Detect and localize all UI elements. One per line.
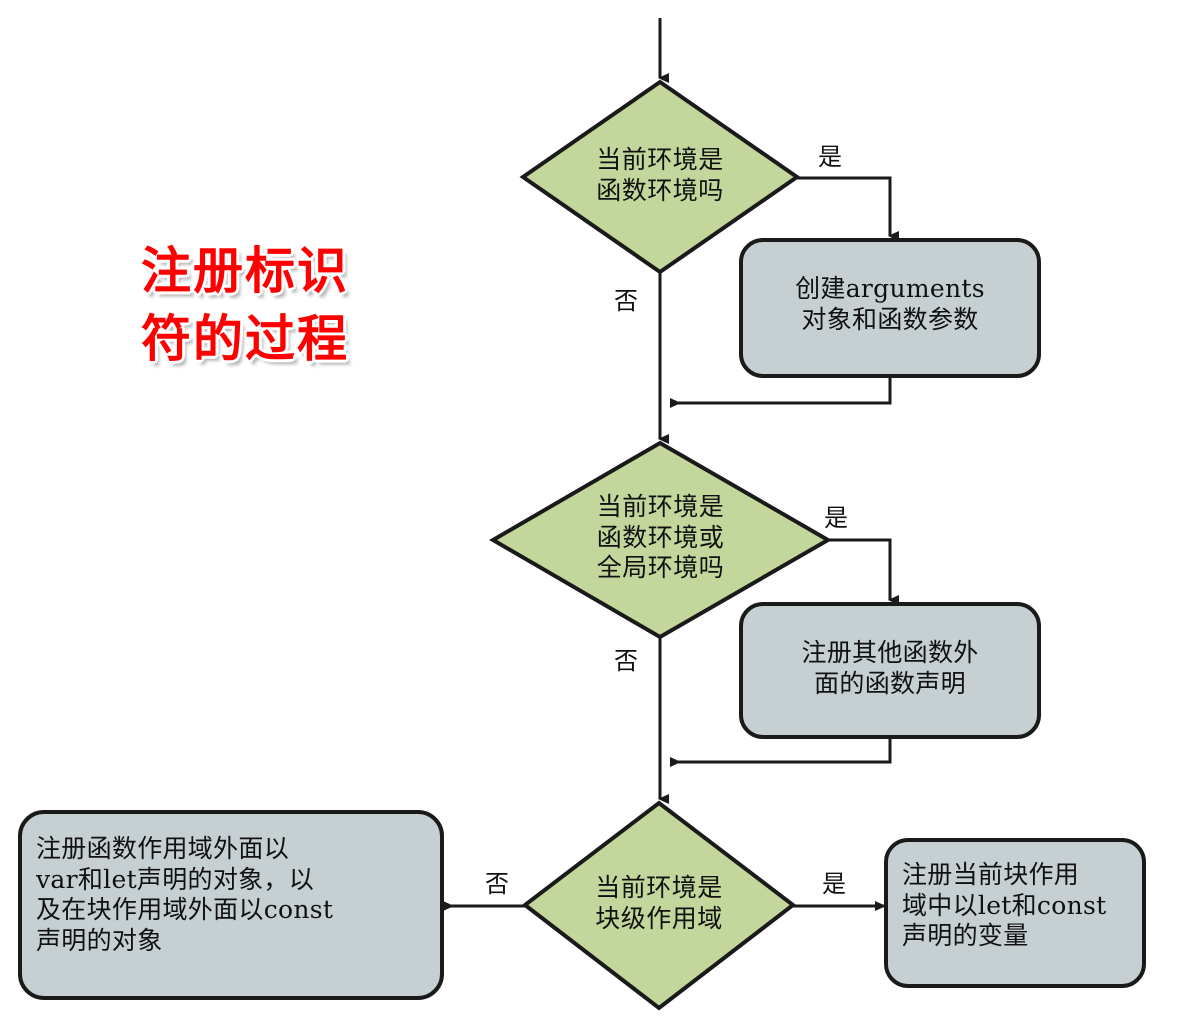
flowchart-canvas: 注册标识 符的过程 当前环境是 函数环境吗 创建arguments 对象和函数参… — [0, 0, 1202, 1018]
edge-label-decision2-yes: 是 — [824, 498, 848, 533]
edge-label-decision1-no: 否 — [614, 281, 638, 316]
decision3-shape[interactable] — [525, 803, 793, 1008]
edge-decision2-yes-to-process2 — [828, 540, 890, 600]
edge-process1-to-merge1 — [672, 375, 890, 403]
flowchart-shapes-layer — [0, 0, 1202, 1018]
edge-decision1-yes-to-process1 — [797, 178, 890, 236]
edge-label-decision3-no: 否 — [485, 864, 509, 899]
edge-label-decision1-yes: 是 — [818, 137, 842, 172]
process1-shape[interactable] — [741, 240, 1039, 376]
edge-process2-to-merge2 — [672, 736, 890, 762]
process-right-shape[interactable] — [886, 840, 1144, 986]
edge-label-decision2-no: 否 — [614, 641, 638, 676]
page-title: 注册标识 符的过程 — [95, 238, 395, 373]
process-left-shape[interactable] — [20, 812, 442, 998]
process2-shape[interactable] — [741, 604, 1039, 737]
edge-label-decision3-yes: 是 — [822, 864, 846, 899]
